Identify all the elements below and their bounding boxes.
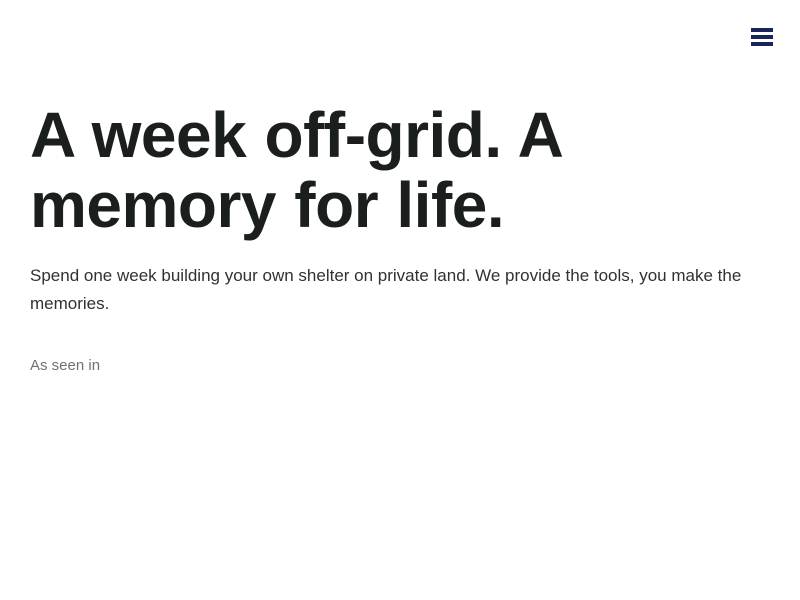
site-header — [0, 0, 800, 74]
hero-inner: A week off-grid. A memory for life. Spen… — [0, 74, 800, 454]
hamburger-bar-top — [751, 28, 773, 32]
hero-section: A week off-grid. A memory for life. Spen… — [0, 74, 800, 454]
as-seen-in-label: As seen in — [30, 318, 770, 376]
brand-logo-slot — [30, 22, 230, 52]
hamburger-bar-bottom — [751, 42, 773, 46]
hamburger-menu-icon — [751, 28, 773, 46]
hero-title: A week off-grid. A memory for life. — [30, 74, 630, 240]
press-logo-list — [30, 376, 770, 454]
page-root: A week off-grid. A memory for life. Spen… — [0, 0, 800, 600]
hamburger-bar-middle — [751, 35, 773, 39]
hero-subtitle: Spend one week building your own shelter… — [30, 240, 770, 318]
menu-toggle-button[interactable] — [749, 24, 775, 50]
